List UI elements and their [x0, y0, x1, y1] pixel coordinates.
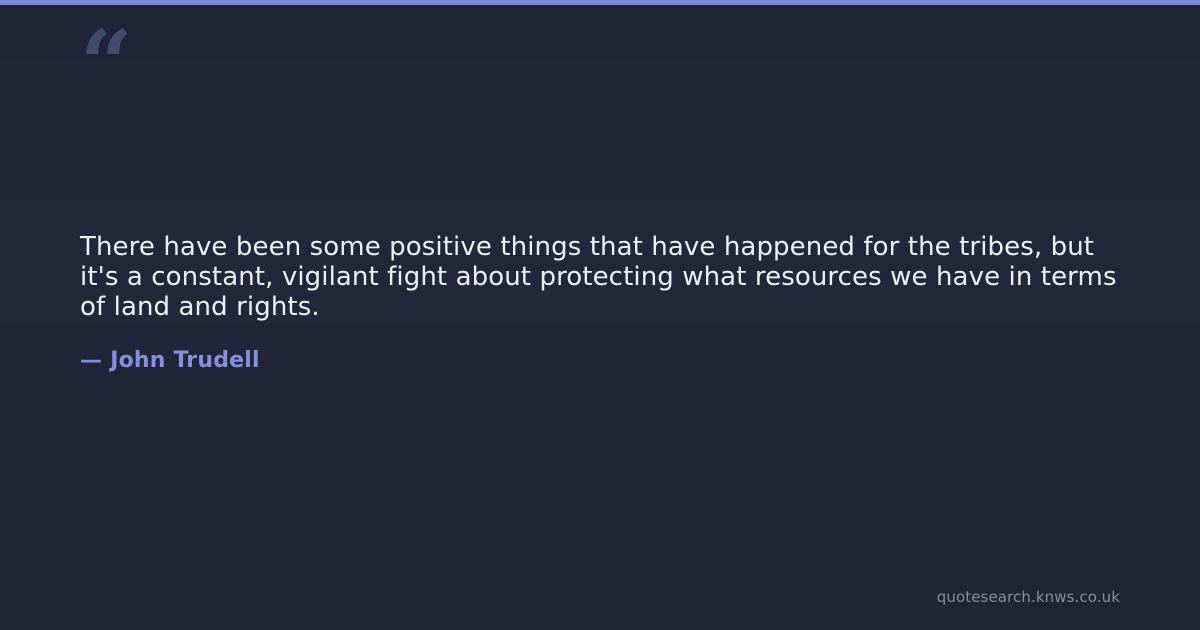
top-accent-bar — [0, 0, 1200, 5]
opening-quote-mark-icon: “ — [80, 18, 131, 110]
site-url-footer: quotesearch.knws.co.uk — [937, 588, 1120, 606]
attribution-dash: — — [80, 348, 102, 373]
quote-text: There have been some positive things tha… — [80, 232, 1125, 322]
quote-body: There have been some positive things tha… — [80, 232, 1125, 322]
quote-card: “ There have been some positive things t… — [0, 0, 1200, 630]
author-name: John Trudell — [110, 348, 260, 373]
quote-attribution: —John Trudell — [80, 347, 260, 375]
